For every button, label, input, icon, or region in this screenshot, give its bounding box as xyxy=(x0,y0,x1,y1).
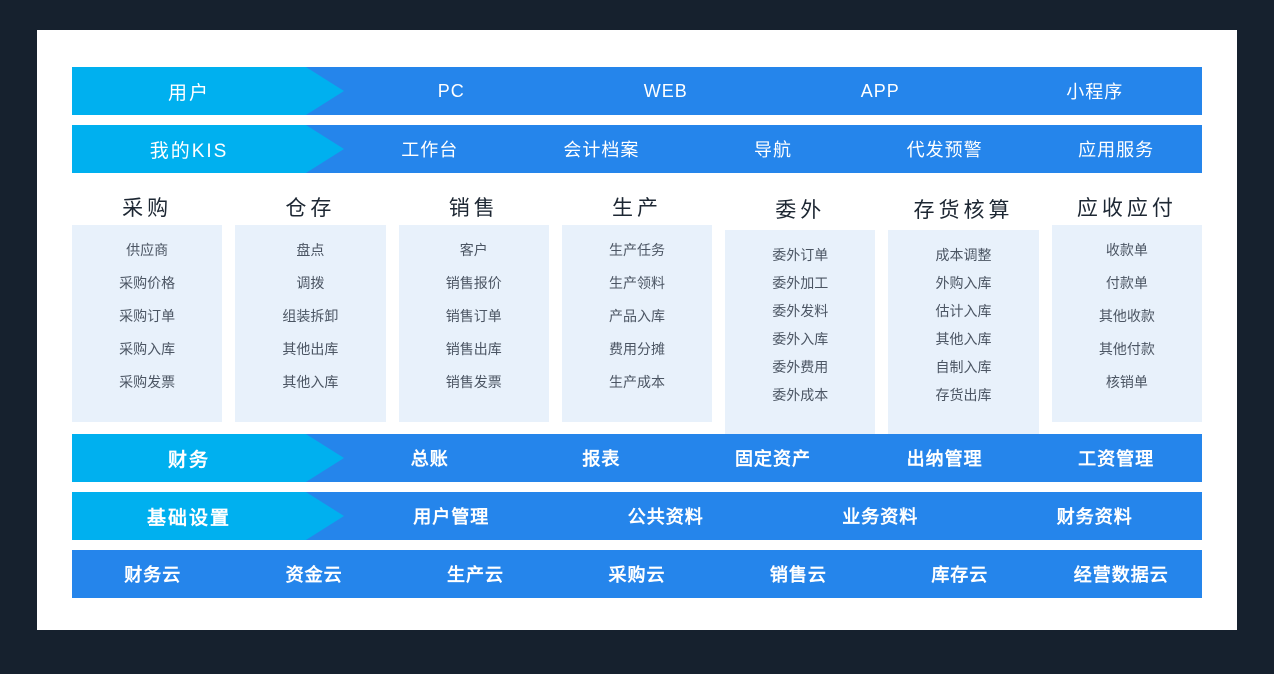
band-user-item-web[interactable]: WEB xyxy=(559,81,774,102)
module-box-warehouse: 盘点 调拨 组装拆卸 其他出库 其他入库 xyxy=(235,225,385,422)
module-item[interactable]: 估计入库 xyxy=(936,304,992,318)
band-my-kis-item-navigation[interactable]: 导航 xyxy=(687,136,859,162)
module-item[interactable]: 供应商 xyxy=(126,243,168,257)
band-my-kis-lead-label[interactable]: 我的KIS xyxy=(72,125,306,173)
band-basic-settings-item-business-data[interactable]: 业务资料 xyxy=(773,503,988,529)
module-column-inventory-accounting: 存货核算 成本调整 外购入库 估计入库 其他入库 自制入库 存货出库 xyxy=(888,188,1038,422)
band-cloud-item-finance-cloud[interactable]: 财务云 xyxy=(72,561,233,587)
module-column-warehouse: 仓存 盘点 调拨 组装拆卸 其他出库 其他入库 xyxy=(235,188,385,422)
band-basic-settings: 基础设置 用户管理 公共资料 业务资料 财务资料 xyxy=(72,492,1202,540)
module-box-purchasing: 供应商 采购价格 采购订单 采购入库 采购发票 xyxy=(72,225,222,422)
band-user-item-miniprogram[interactable]: 小程序 xyxy=(988,78,1203,104)
module-box-inventory-accounting: 成本调整 外购入库 估计入库 其他入库 自制入库 存货出库 xyxy=(888,230,1038,434)
band-my-kis-item-workbench[interactable]: 工作台 xyxy=(344,136,516,162)
module-item[interactable]: 其他出库 xyxy=(282,342,338,356)
module-box-receivable-payable: 收款单 付款单 其他收款 其他付款 核销单 xyxy=(1052,225,1202,422)
module-item[interactable]: 生产成本 xyxy=(609,375,665,389)
module-item[interactable]: 采购订单 xyxy=(119,309,175,323)
module-item[interactable]: 其他付款 xyxy=(1099,342,1155,356)
module-item[interactable]: 其他入库 xyxy=(936,332,992,346)
band-cloud-item-purchasing-cloud[interactable]: 采购云 xyxy=(556,561,717,587)
module-item[interactable]: 委外费用 xyxy=(772,360,828,374)
module-column-receivable-payable: 应收应付 收款单 付款单 其他收款 其他付款 核销单 xyxy=(1052,188,1202,422)
band-cloud-services: 财务云 资金云 生产云 采购云 销售云 库存云 经营数据云 xyxy=(72,550,1202,598)
module-item[interactable]: 产品入库 xyxy=(609,309,665,323)
module-box-outsourcing: 委外订单 委外加工 委外发料 委外入库 委外费用 委外成本 xyxy=(725,230,875,434)
module-item[interactable]: 销售出库 xyxy=(446,342,502,356)
module-column-sales: 销售 客户 销售报价 销售订单 销售出库 销售发票 xyxy=(399,188,549,422)
module-item[interactable]: 采购入库 xyxy=(119,342,175,356)
band-finance-item-reports[interactable]: 报表 xyxy=(516,445,688,471)
module-item[interactable]: 自制入库 xyxy=(936,360,992,374)
module-title-inventory-accounting: 存货核算 xyxy=(888,188,1038,230)
band-cloud-item-inventory-cloud[interactable]: 库存云 xyxy=(879,561,1040,587)
module-title-outsourcing: 委外 xyxy=(725,188,875,230)
band-basic-settings-item-financial-data[interactable]: 财务资料 xyxy=(988,503,1203,529)
band-basic-settings-item-user-management[interactable]: 用户管理 xyxy=(344,503,559,529)
band-basic-settings-items: 用户管理 公共资料 业务资料 财务资料 xyxy=(344,492,1202,540)
band-user-items: PC WEB APP 小程序 xyxy=(344,67,1202,115)
module-item[interactable]: 盘点 xyxy=(296,243,324,257)
module-title-sales: 销售 xyxy=(399,188,549,225)
module-title-receivable-payable: 应收应付 xyxy=(1052,188,1202,225)
module-item[interactable]: 收款单 xyxy=(1106,243,1148,257)
module-item[interactable]: 销售订单 xyxy=(446,309,502,323)
module-item[interactable]: 采购价格 xyxy=(119,276,175,290)
module-column-production: 生产 生产任务 生产领料 产品入库 费用分摊 生产成本 xyxy=(562,188,712,422)
module-item[interactable]: 调拨 xyxy=(296,276,324,290)
module-item[interactable]: 组装拆卸 xyxy=(282,309,338,323)
module-item[interactable]: 付款单 xyxy=(1106,276,1148,290)
band-cloud-item-production-cloud[interactable]: 生产云 xyxy=(395,561,556,587)
module-column-purchasing: 采购 供应商 采购价格 采购订单 采购入库 采购发票 xyxy=(72,188,222,422)
module-item[interactable]: 客户 xyxy=(460,243,488,257)
module-item[interactable]: 委外加工 xyxy=(772,276,828,290)
module-title-production: 生产 xyxy=(562,188,712,225)
module-title-warehouse: 仓存 xyxy=(235,188,385,225)
band-user-lead-label[interactable]: 用户 xyxy=(72,67,306,115)
band-finance-item-payroll-management[interactable]: 工资管理 xyxy=(1030,445,1202,471)
band-basic-settings-lead-label[interactable]: 基础设置 xyxy=(72,492,306,540)
module-box-sales: 客户 销售报价 销售订单 销售出库 销售发票 xyxy=(399,225,549,422)
band-basic-settings-item-public-data[interactable]: 公共资料 xyxy=(559,503,774,529)
band-finance-item-fixed-assets[interactable]: 固定资产 xyxy=(687,445,859,471)
architecture-card: 用户 PC WEB APP 小程序 我的KIS 工作台 会计档案 导航 代发预警… xyxy=(37,30,1237,630)
module-item[interactable]: 其他收款 xyxy=(1099,309,1155,323)
band-cloud-item-sales-cloud[interactable]: 销售云 xyxy=(718,561,879,587)
module-item[interactable]: 生产领料 xyxy=(609,276,665,290)
band-finance-items: 总账 报表 固定资产 出纳管理 工资管理 xyxy=(344,434,1202,482)
module-item[interactable]: 委外入库 xyxy=(772,332,828,346)
module-item[interactable]: 外购入库 xyxy=(936,276,992,290)
band-finance: 财务 总账 报表 固定资产 出纳管理 工资管理 xyxy=(72,434,1202,482)
band-user-item-app[interactable]: APP xyxy=(773,81,988,102)
band-user-item-pc[interactable]: PC xyxy=(344,81,559,102)
module-item[interactable]: 销售发票 xyxy=(446,375,502,389)
band-finance-item-cashier-management[interactable]: 出纳管理 xyxy=(859,445,1031,471)
module-column-outsourcing: 委外 委外订单 委外加工 委外发料 委外入库 委外费用 委外成本 xyxy=(725,188,875,422)
module-item[interactable]: 核销单 xyxy=(1106,375,1148,389)
band-my-kis-item-app-service[interactable]: 应用服务 xyxy=(1030,136,1202,162)
band-my-kis-items: 工作台 会计档案 导航 代发预警 应用服务 xyxy=(344,125,1202,173)
module-columns: 采购 供应商 采购价格 采购订单 采购入库 采购发票 仓存 盘点 调拨 组装拆卸… xyxy=(72,188,1202,422)
module-item[interactable]: 委外发料 xyxy=(772,304,828,318)
module-item[interactable]: 采购发票 xyxy=(119,375,175,389)
band-my-kis-item-dropship-alert[interactable]: 代发预警 xyxy=(859,136,1031,162)
module-item[interactable]: 成本调整 xyxy=(936,248,992,262)
band-cloud-item-funds-cloud[interactable]: 资金云 xyxy=(233,561,394,587)
band-user: 用户 PC WEB APP 小程序 xyxy=(72,67,1202,115)
module-item[interactable]: 生产任务 xyxy=(609,243,665,257)
module-item[interactable]: 委外成本 xyxy=(772,388,828,402)
band-cloud-services-items: 财务云 资金云 生产云 采购云 销售云 库存云 经营数据云 xyxy=(72,550,1202,598)
band-finance-lead-label[interactable]: 财务 xyxy=(72,434,306,482)
module-item[interactable]: 费用分摊 xyxy=(609,342,665,356)
band-finance-item-general-ledger[interactable]: 总账 xyxy=(344,445,516,471)
module-item[interactable]: 其他入库 xyxy=(282,375,338,389)
band-cloud-item-operation-data-cloud[interactable]: 经营数据云 xyxy=(1041,561,1202,587)
module-item[interactable]: 销售报价 xyxy=(446,276,502,290)
module-title-purchasing: 采购 xyxy=(72,188,222,225)
band-my-kis-item-accounting-archive[interactable]: 会计档案 xyxy=(516,136,688,162)
module-item[interactable]: 委外订单 xyxy=(772,248,828,262)
module-item[interactable]: 存货出库 xyxy=(936,388,992,402)
module-box-production: 生产任务 生产领料 产品入库 费用分摊 生产成本 xyxy=(562,225,712,422)
band-my-kis: 我的KIS 工作台 会计档案 导航 代发预警 应用服务 xyxy=(72,125,1202,173)
